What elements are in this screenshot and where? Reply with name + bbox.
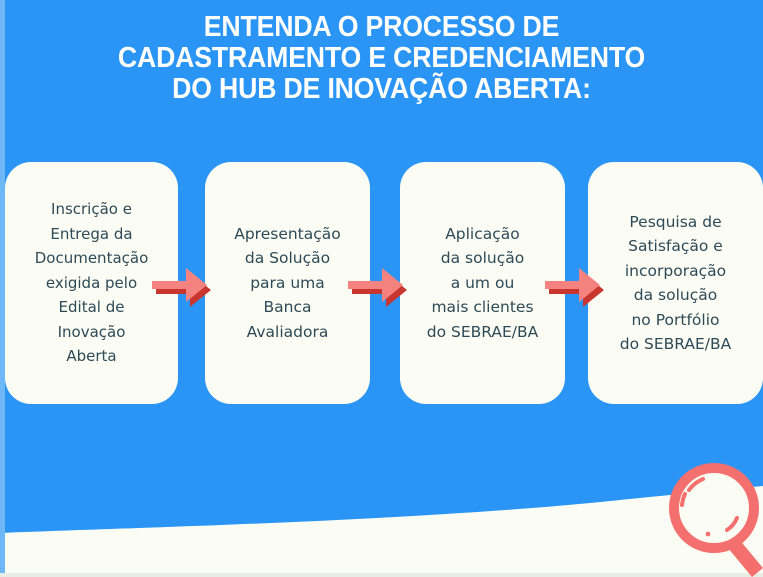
bottom-edge-stripe [0,573,763,577]
process-step-label-3: Aplicação da solução a um ou mais client… [427,222,539,345]
infographic-canvas: ENTENDA O PROCESSO DE CADASTRAMENTO E CR… [0,0,763,577]
arrow-right-icon [545,262,611,318]
page-title: ENTENDA O PROCESSO DE CADASTRAMENTO E CR… [0,12,763,105]
process-step-card-2[interactable]: Apresentação da Solução para uma Banca A… [205,162,370,404]
title-line-3: DO HUB DE INOVAÇÃO ABERTA: [31,74,733,105]
process-step-label-4: Pesquisa de Satisfação e incorporação da… [620,210,732,357]
magnifying-glass-icon [655,450,763,577]
title-line-2: CADASTRAMENTO E CREDENCIAMENTO [31,43,733,74]
process-step-label-2: Apresentação da Solução para uma Banca A… [234,222,341,345]
title-line-1: ENTENDA O PROCESSO DE [31,12,733,43]
process-step-card-3[interactable]: Aplicação da solução a um ou mais client… [400,162,565,404]
arrow-right-icon [348,262,414,318]
process-step-label-1: Inscrição e Entrega da Documentação exig… [35,197,149,369]
process-step-card-4[interactable]: Pesquisa de Satisfação e incorporação da… [588,162,763,404]
arrow-right-icon [152,262,218,318]
